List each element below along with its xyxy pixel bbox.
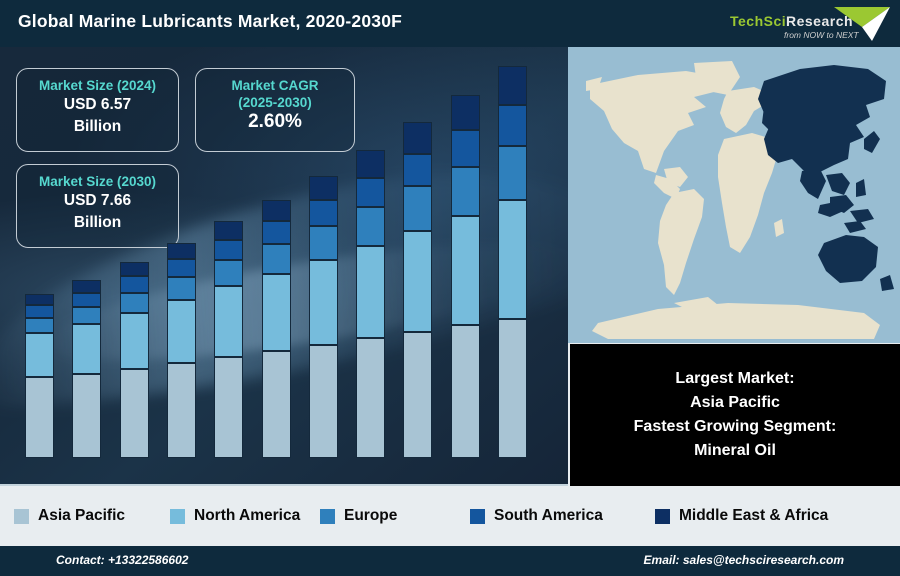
- bar-segment: [403, 186, 432, 230]
- bar-segment: [167, 363, 196, 458]
- bar-segment: [167, 300, 196, 362]
- bar-column: [72, 280, 101, 458]
- bar-segment: [309, 226, 338, 260]
- bar-segment: [167, 243, 196, 260]
- legend-item[interactable]: North America: [170, 507, 300, 525]
- bar-segment: [72, 324, 101, 373]
- bar-column: [120, 262, 149, 458]
- bar-segment: [167, 277, 196, 300]
- bar-segment: [120, 293, 149, 313]
- bar-segment: [214, 286, 243, 356]
- bar-column: [356, 150, 385, 458]
- contact-text: Contact: +13322586602: [56, 553, 188, 567]
- chart-panel: Market Size (2024) USD 6.57 Billion Mark…: [0, 47, 568, 484]
- svg-text:from NOW to NEXT: from NOW to NEXT: [784, 30, 859, 40]
- bar-segment: [498, 319, 527, 458]
- fastest-segment-label: Fastest Growing Segment:: [634, 415, 837, 439]
- bar-segment: [167, 259, 196, 277]
- bar-segment: [214, 260, 243, 286]
- bar-segment: [25, 305, 54, 317]
- largest-market-label: Largest Market:: [675, 367, 794, 391]
- bar-segment: [356, 178, 385, 207]
- bar-segment: [262, 221, 291, 244]
- bar-segment: [356, 150, 385, 178]
- page-title: Global Marine Lubricants Market, 2020-20…: [18, 11, 402, 32]
- legend-item[interactable]: South America: [470, 507, 603, 525]
- bar-segment: [120, 276, 149, 292]
- bar-segment: [498, 66, 527, 106]
- email-text: Email: sales@techsciresearch.com: [644, 553, 844, 567]
- bar-segment: [72, 293, 101, 307]
- bar-segment: [451, 95, 480, 130]
- legend-label: Europe: [344, 507, 397, 525]
- legend-label: Asia Pacific: [38, 507, 125, 525]
- bar-column: [167, 243, 196, 458]
- legend-swatch: [170, 509, 185, 524]
- bar-segment: [214, 240, 243, 260]
- legend-label: Middle East & Africa: [679, 507, 828, 525]
- bar-segment: [403, 122, 432, 153]
- bar-column: [25, 294, 54, 458]
- bar-segment: [262, 351, 291, 458]
- bar-column: [262, 200, 291, 458]
- bar-segment: [72, 307, 101, 325]
- bar-segment: [451, 216, 480, 325]
- bar-segment: [25, 294, 54, 305]
- legend-swatch: [320, 509, 335, 524]
- bar-segment: [214, 221, 243, 240]
- chart-legend: Asia PacificNorth AmericaEuropeSouth Ame…: [0, 486, 900, 546]
- bar-segment: [403, 332, 432, 458]
- legend-item[interactable]: Middle East & Africa: [655, 507, 828, 525]
- largest-market-value: Asia Pacific: [690, 391, 780, 415]
- bar-segment: [309, 345, 338, 458]
- bar-segment: [25, 318, 54, 334]
- bar-column: [309, 176, 338, 458]
- stacked-bar-plot: [0, 47, 568, 458]
- bar-segment: [356, 246, 385, 339]
- header-bar: Global Marine Lubricants Market, 2020-20…: [0, 0, 900, 47]
- world-map-svg: [568, 47, 900, 343]
- bar-column: [214, 221, 243, 458]
- legend-label: North America: [194, 507, 300, 525]
- bar-segment: [356, 338, 385, 458]
- svg-text:Research: Research: [786, 13, 853, 29]
- bar-segment: [451, 325, 480, 458]
- bar-segment: [262, 200, 291, 221]
- bar-segment: [25, 377, 54, 458]
- bar-segment: [262, 274, 291, 351]
- bar-segment: [120, 369, 149, 458]
- bar-segment: [25, 333, 54, 377]
- bar-segment: [498, 146, 527, 201]
- bar-column: [403, 122, 432, 458]
- infographic-root: Global Marine Lubricants Market, 2020-20…: [0, 0, 900, 576]
- bar-segment: [451, 130, 480, 166]
- bar-segment: [498, 200, 527, 318]
- bar-segment: [120, 262, 149, 277]
- bar-segment: [214, 357, 243, 458]
- legend-item[interactable]: Europe: [320, 507, 397, 525]
- bar-column: [451, 95, 480, 458]
- bar-segment: [120, 313, 149, 369]
- bar-column: [498, 66, 527, 458]
- svg-text:TechSci: TechSci: [730, 13, 786, 29]
- world-map: [568, 47, 900, 343]
- bar-segment: [403, 231, 432, 332]
- legend-item[interactable]: Asia Pacific: [14, 507, 125, 525]
- bar-segment: [309, 176, 338, 200]
- bar-segment: [262, 244, 291, 274]
- bar-segment: [451, 167, 480, 216]
- key-insights-box: Largest Market: Asia Pacific Fastest Gro…: [570, 344, 900, 486]
- legend-label: South America: [494, 507, 603, 525]
- bar-segment: [72, 374, 101, 458]
- bar-segment: [403, 154, 432, 187]
- fastest-segment-value: Mineral Oil: [694, 439, 776, 463]
- legend-swatch: [14, 509, 29, 524]
- bar-segment: [309, 260, 338, 344]
- legend-swatch: [655, 509, 670, 524]
- techsci-research-logo: TechSci Research from NOW to NEXT: [722, 3, 894, 45]
- bar-segment: [72, 280, 101, 293]
- bar-segment: [356, 207, 385, 246]
- bar-segment: [498, 105, 527, 146]
- legend-swatch: [470, 509, 485, 524]
- footer-bar: Contact: +13322586602 Email: sales@techs…: [0, 546, 900, 576]
- bar-segment: [309, 200, 338, 226]
